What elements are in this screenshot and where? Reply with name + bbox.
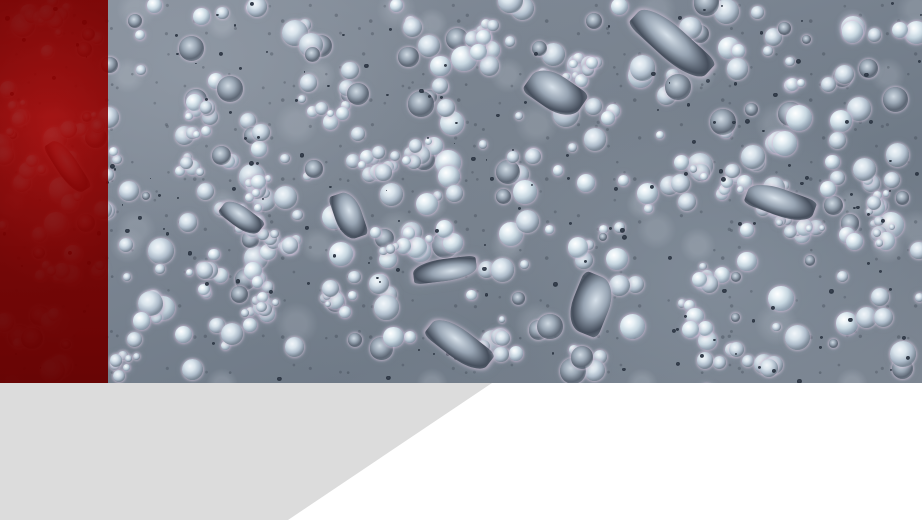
cell [784,225,797,238]
cell [620,228,625,233]
cell [568,143,577,152]
cell [208,249,220,261]
cell [292,210,302,220]
cell [513,180,536,203]
cell [257,136,260,139]
cell [265,175,271,181]
cell [727,58,749,80]
cell [842,21,863,42]
cell [221,323,243,345]
cell [751,6,764,19]
cell [608,25,610,27]
cell [788,164,791,167]
cell [772,323,781,332]
cell [390,0,402,12]
cell [158,194,161,197]
cell [722,289,727,294]
cell [122,204,124,206]
cell [254,204,262,212]
cell [745,103,758,116]
cell [347,83,369,105]
cell [820,181,836,197]
cell [553,165,563,175]
cell [737,186,745,194]
cell [193,8,210,25]
cell [773,131,798,156]
cell [386,94,389,97]
cell [485,293,489,297]
cell [585,98,602,115]
cell [867,213,870,216]
cell [745,119,750,124]
cell [339,306,351,318]
cell [372,146,385,159]
cell [136,65,145,74]
cell [150,178,152,180]
cell [177,197,179,199]
cell [805,255,815,265]
cell [537,314,562,339]
cell-colonies [0,0,922,383]
cell [119,238,133,252]
cell [516,210,539,233]
cell [776,219,783,226]
cell [256,162,259,165]
cell [348,271,361,284]
cell [571,346,593,368]
cell [760,359,778,377]
cell [742,355,754,367]
cell [471,157,476,162]
cell [175,34,178,37]
cell [732,44,745,57]
cell [368,262,370,264]
cell [241,309,249,317]
cell [512,292,525,305]
cell [668,256,672,260]
cell [486,159,488,161]
cell [752,319,756,323]
cell [553,282,557,286]
cell [285,337,305,357]
cell [348,291,357,300]
cell [505,36,516,47]
cell [651,72,656,77]
cell [252,276,263,287]
cell [490,177,493,180]
cell [545,225,554,234]
cell [496,114,499,117]
cell [836,312,859,335]
cell [466,290,477,301]
cell [637,183,658,204]
cell [682,321,699,338]
cell [179,213,198,232]
fluorescence-panel [0,0,108,383]
cell [721,177,726,182]
cell [753,222,756,225]
cell [699,263,707,271]
cell [212,146,231,165]
cell [491,258,514,281]
cell [315,102,328,115]
cell [520,260,529,269]
cell [586,13,602,29]
cell [138,216,141,219]
cell [760,31,763,34]
cell [889,288,892,291]
cell [123,273,131,281]
cell [376,277,378,279]
cell [819,225,825,231]
cell [379,281,381,283]
cell [729,342,744,357]
cell [665,74,691,100]
cell [249,161,254,166]
cell [671,174,690,193]
cell [229,111,232,114]
cell [484,244,486,246]
cell [270,230,279,239]
cell [418,349,420,351]
cell [446,185,463,202]
cell [114,168,116,170]
cell [135,30,145,40]
cell [186,269,193,276]
cell [657,109,659,111]
cell [785,57,795,67]
cell [796,59,801,64]
cell [239,67,242,70]
cell [201,126,212,137]
cell [889,190,891,192]
cell [567,177,570,180]
cell [329,186,332,189]
cell [825,155,840,170]
cell [879,270,882,273]
cell [179,36,205,62]
cell [896,191,910,205]
cell [282,237,299,254]
cell [684,172,688,176]
cell [874,308,893,327]
hero-micrograph [0,0,922,383]
cell [375,164,391,180]
cell [369,274,388,293]
cell [786,105,812,131]
cell [487,20,499,32]
cell [307,282,310,285]
cell [918,60,921,63]
cell [867,262,870,265]
cell [869,120,873,124]
cell [480,56,499,75]
cell [916,173,918,175]
cell [398,47,418,67]
cell [676,328,678,330]
cell [470,44,486,60]
cell [599,233,607,241]
cell [351,127,365,141]
cell [128,14,142,28]
cell [876,239,883,246]
cell [495,331,510,346]
cell [864,73,868,77]
cell [837,271,848,282]
cell [404,331,416,343]
cell [274,186,297,209]
cell [119,181,139,201]
cell [672,329,677,334]
cell [586,57,598,69]
cell [778,22,791,35]
cell [193,131,200,138]
cell [133,312,151,330]
bottom-banner: Cell cultivation Adherent cells require … [0,383,922,520]
cell [496,189,512,205]
cell [577,174,595,192]
cell [196,168,204,176]
cell [437,99,456,118]
cell [737,252,756,271]
cell [370,227,381,238]
cell [389,28,392,31]
cell [678,193,696,211]
cell [622,235,627,240]
banner-gray-wedge [0,383,922,520]
cell [524,101,527,104]
cell [850,193,853,196]
cell [889,160,891,162]
cell [212,342,215,345]
cell [432,78,448,94]
cell [269,290,273,294]
cell [692,140,696,144]
cell [518,207,521,210]
cell [719,169,723,173]
cell [374,295,398,319]
cell [884,172,900,188]
cell [305,226,308,229]
phase-contrast-panel [0,0,922,383]
cell [731,313,740,322]
cell [133,353,140,360]
cell [232,187,236,191]
cell [416,193,438,215]
poster-root: Cell cultivation Adherent cells require … [0,0,922,520]
cell [824,196,843,215]
cell [217,76,243,102]
cell [300,153,304,157]
cell [155,264,165,274]
cell [609,275,630,296]
cell [327,85,329,87]
cell [328,189,369,242]
cell [601,111,615,125]
cell [630,55,655,80]
cell [197,262,214,279]
cell [525,149,541,165]
cell [298,95,306,103]
cell [322,280,339,297]
cell [197,183,214,200]
cell [234,24,237,27]
cell [185,113,192,120]
cell [383,327,404,348]
cell [148,238,174,264]
cell [305,47,321,63]
cell [110,354,123,367]
cell [348,333,362,347]
cell [435,229,439,233]
cell [251,175,265,189]
cell [216,14,218,16]
cell [125,229,129,233]
cell [805,176,809,180]
cell [741,145,765,169]
cell [266,51,268,53]
cell [182,359,204,381]
cell [364,64,369,69]
cell [606,248,628,270]
cell [622,368,625,371]
cell [341,62,358,79]
cell [251,141,267,157]
cell [891,2,894,5]
cell [706,79,710,83]
cell [802,35,811,44]
cell [440,96,443,99]
cell [390,151,400,161]
cell [731,272,741,282]
cell [848,318,853,323]
cell [906,356,910,360]
cell [250,2,254,6]
cell [584,128,607,151]
cell [277,377,281,381]
cell [881,219,885,223]
cell [123,364,130,371]
cell [304,71,306,73]
cell [644,204,653,213]
cell [418,35,440,57]
cell [915,293,922,302]
cell [403,18,422,37]
cell [244,137,247,140]
cell [515,112,523,120]
cell [762,130,764,132]
cell [890,341,916,367]
cell [690,165,698,173]
cell [700,173,707,180]
cell [476,30,491,45]
cell [620,314,645,339]
cell [205,282,209,286]
cell [127,332,142,347]
cell [147,0,162,13]
cell [280,154,290,164]
cell [552,352,554,354]
cell [800,182,804,186]
cell [611,0,628,15]
cell [438,166,459,187]
cell [509,346,523,360]
cell [409,139,422,152]
cell [829,132,846,149]
cell [454,143,456,145]
cell [763,46,773,56]
cell [910,242,922,260]
cell [801,20,804,23]
cell [698,321,713,336]
cell [829,339,838,348]
cell [772,369,776,373]
cell [499,316,506,323]
cell [584,260,587,263]
cell [342,34,345,37]
cell [684,315,686,317]
cell [713,121,716,124]
cell [295,99,298,102]
cell [856,206,859,209]
cell [219,52,223,56]
cell [902,336,906,340]
cell [336,107,349,120]
cell [687,103,690,106]
cell [676,362,680,366]
cell [142,192,150,200]
cell [853,207,855,209]
cell [773,93,777,97]
cell [113,370,125,382]
cell [163,228,165,230]
cell [430,56,450,76]
cell [493,347,508,362]
cell [674,155,689,170]
cell [569,222,572,225]
cell [396,268,401,273]
cell [614,187,618,191]
cell [618,175,629,186]
cell [195,63,197,65]
cell [166,232,170,236]
cell [735,353,737,355]
cell [433,353,435,355]
cell [272,299,279,306]
cell [188,251,192,255]
cell [482,267,486,271]
cell [205,98,208,101]
cell [398,220,400,222]
cell [835,65,854,84]
cell [868,28,882,42]
cell [797,79,805,87]
cell [732,121,735,124]
cell [819,346,822,349]
cell [740,223,754,237]
cell [734,82,737,85]
cell [175,326,192,343]
cell [180,157,192,169]
cell [231,286,248,303]
cell [333,254,336,257]
cell [871,288,890,307]
cell [125,355,132,362]
cell [820,336,823,339]
cell [821,77,836,92]
cell [609,227,612,230]
cell [507,151,519,163]
